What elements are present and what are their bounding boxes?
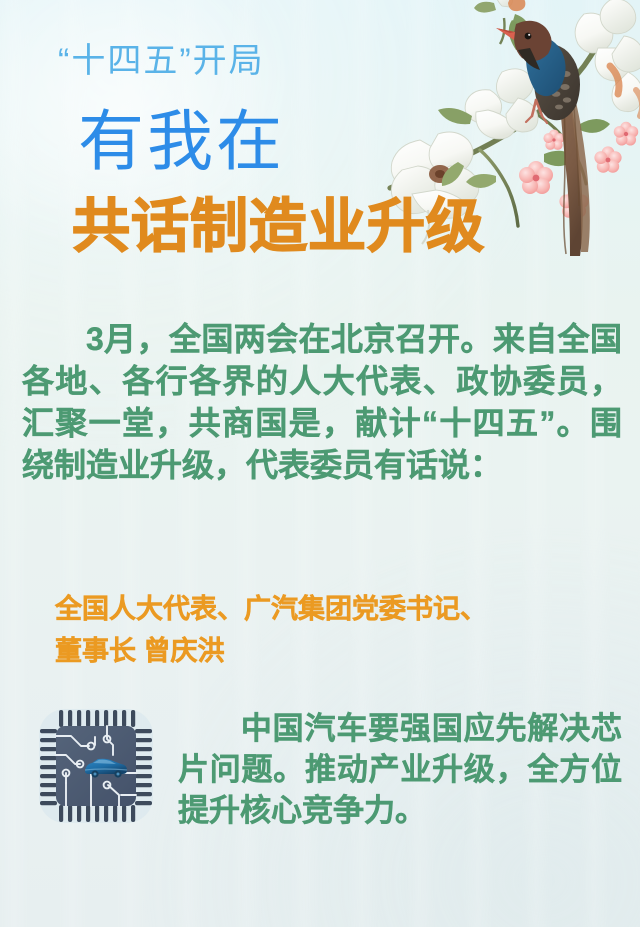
chip-car-icon (33, 703, 159, 829)
attribution-line-2: 董事长 曾庆洪 (55, 630, 615, 672)
quote-block: 中国汽车要强国应先解决芯片问题。推动产业升级，全方位提升核心竞争力。 (0, 700, 640, 870)
attribution-line-1: 全国人大代表、广汽集团党委书记、 (55, 588, 615, 630)
quote-text: 中国汽车要强国应先解决芯片问题。推动产业升级，全方位提升核心竞争力。 (178, 711, 622, 828)
poster-canvas: “十四五”开局 有我在 共话制造业升级 3月，全国两会在北京召开。来自全国各地、… (0, 0, 640, 927)
speaker-quote: 中国汽车要强国应先解决芯片问题。推动产业升级，全方位提升核心竞争力。 (178, 708, 622, 831)
poster-title-main: 有我在 (78, 108, 285, 174)
lede-text: 3月，全国两会在北京召开。来自全国各地、各行各界的人大代表、政协委员，汇聚一堂，… (22, 321, 622, 483)
poster-lede-paragraph: 3月，全国两会在北京召开。来自全国各地、各行各界的人大代表、政协委员，汇聚一堂，… (22, 318, 622, 486)
poster-title-sub: 共话制造业升级 (72, 198, 485, 256)
speaker-attribution: 全国人大代表、广汽集团党委书记、 董事长 曾庆洪 (55, 588, 615, 672)
poster-kicker: “十四五”开局 (58, 44, 265, 78)
